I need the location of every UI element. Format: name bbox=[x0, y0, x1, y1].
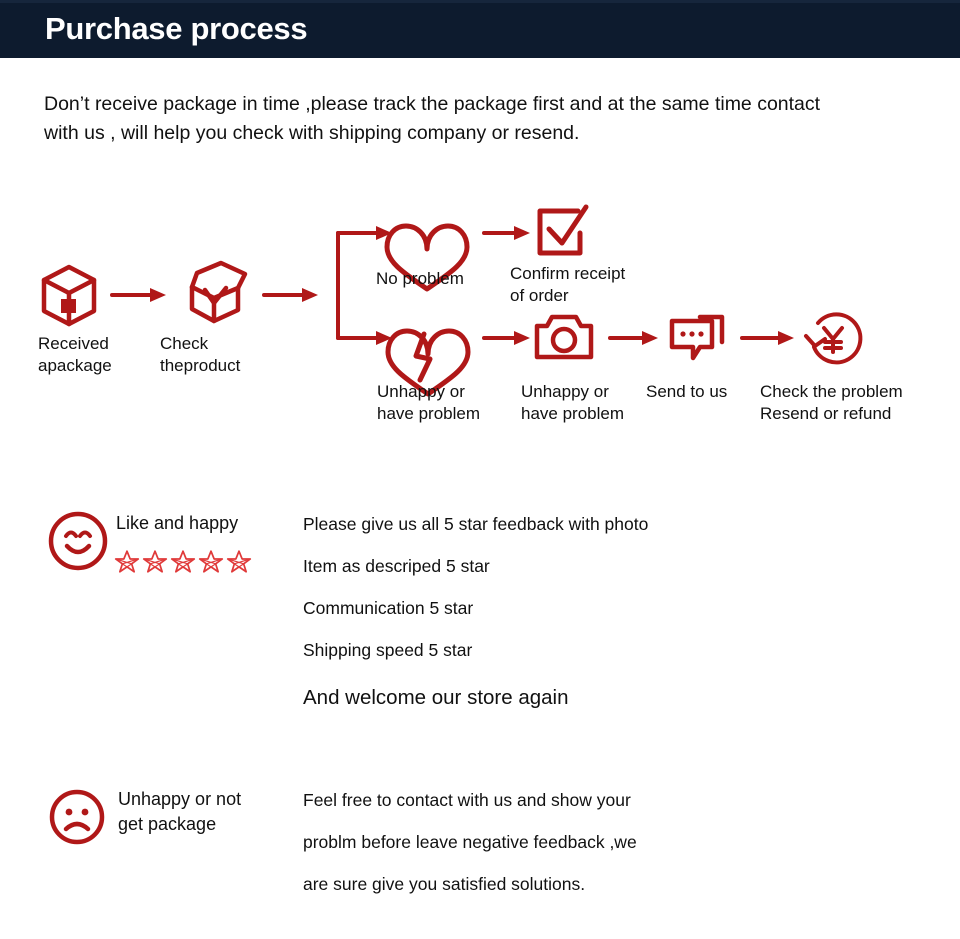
arrow-1 bbox=[112, 288, 166, 302]
flow-label-unhappy-1: Unhappy or have problem bbox=[377, 381, 480, 425]
feedback-line: Item as descriped 5 star bbox=[303, 545, 648, 587]
star-icon bbox=[226, 549, 252, 575]
checkbox-check-icon bbox=[540, 207, 586, 253]
feedback-line: Communication 5 star bbox=[303, 587, 648, 629]
star-icon bbox=[114, 549, 140, 575]
closed-box-icon bbox=[44, 267, 94, 324]
intro-paragraph: Don’t receive package in time ,please tr… bbox=[44, 90, 844, 148]
star-rating bbox=[114, 549, 252, 575]
flow-label-send-to-us: Send to us bbox=[646, 381, 727, 403]
chat-bubbles-icon bbox=[672, 317, 722, 358]
note-line: Feel free to contact with us and show yo… bbox=[303, 779, 637, 821]
flow-label-check-product: Check theproduct bbox=[160, 333, 240, 377]
header-bar: Purchase process bbox=[0, 0, 960, 58]
purchase-process-infographic: Purchase process Don’t receive package i… bbox=[0, 0, 960, 939]
flow-label-unhappy-2: Unhappy or have problem bbox=[521, 381, 624, 425]
arrow-4 bbox=[484, 331, 530, 345]
arrow-6 bbox=[742, 331, 794, 345]
feedback-line: Shipping speed 5 star bbox=[303, 629, 648, 671]
yen-refund-icon bbox=[806, 314, 860, 362]
flow-label-received: Received apackage bbox=[38, 333, 112, 377]
feedback-closing-line: And welcome our store again bbox=[303, 671, 648, 725]
process-flow-diagram: Received apackage Check theproduct No pr… bbox=[0, 195, 960, 445]
arrow-3 bbox=[484, 226, 530, 240]
note-line: are sure give you satisfied solutions. bbox=[303, 863, 637, 905]
star-icon bbox=[198, 549, 224, 575]
flow-label-confirm-receipt: Confirm receipt of order bbox=[510, 263, 625, 307]
arrow-5 bbox=[610, 331, 658, 345]
unhappy-label: Unhappy or not get package bbox=[118, 787, 241, 837]
camera-icon bbox=[537, 317, 591, 357]
star-icon bbox=[170, 549, 196, 575]
note-line: problm before leave negative feedback ,w… bbox=[303, 821, 637, 863]
flow-label-no-problem: No problem bbox=[376, 268, 464, 290]
arrow-2 bbox=[264, 288, 318, 302]
open-box-icon bbox=[192, 263, 245, 321]
star-icon bbox=[142, 549, 168, 575]
feedback-request-list: Please give us all 5 star feedback with … bbox=[303, 503, 648, 725]
happy-label: Like and happy bbox=[116, 511, 238, 536]
page-title: Purchase process bbox=[45, 9, 307, 49]
smiley-happy-icon bbox=[47, 510, 109, 572]
smiley-sad-icon bbox=[48, 788, 106, 846]
feedback-line: Please give us all 5 star feedback with … bbox=[303, 503, 648, 545]
flow-label-check-problem: Check the problem Resend or refund bbox=[760, 381, 903, 425]
contact-note-list: Feel free to contact with us and show yo… bbox=[303, 779, 637, 905]
